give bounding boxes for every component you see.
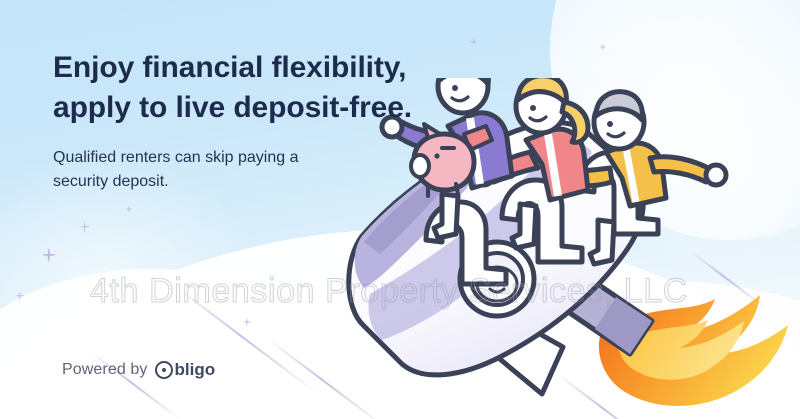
obligo-wordmark: bligo [175, 360, 216, 380]
obligo-logo: bligo [155, 360, 216, 380]
powered-by-label: Powered by [62, 361, 148, 379]
powered-by-footer: Powered by bligo [62, 360, 215, 380]
headline-line-2: apply to live deposit-free. [53, 88, 453, 128]
sparkle-icon [16, 292, 24, 300]
sparkle-icon [126, 206, 132, 212]
sparkle-icon [42, 248, 55, 261]
sparkle-icon [243, 318, 250, 325]
sparkle-icon [80, 222, 89, 231]
sparkle-icon [600, 44, 606, 50]
headline-line-1: Enjoy financial flexibility, [53, 51, 406, 84]
page-title: Enjoy financial flexibility, apply to li… [53, 48, 453, 128]
subtitle-line-2: security deposit. [53, 170, 453, 194]
promo-banner: Enjoy financial flexibility, apply to li… [0, 0, 800, 419]
obligo-mark-icon [155, 361, 173, 379]
subtitle-line-1: Qualified renters can skip paying a [53, 149, 298, 166]
sparkle-icon [470, 38, 477, 45]
subtitle: Qualified renters can skip paying a secu… [53, 146, 453, 194]
copy-block: Enjoy financial flexibility, apply to li… [53, 48, 453, 194]
